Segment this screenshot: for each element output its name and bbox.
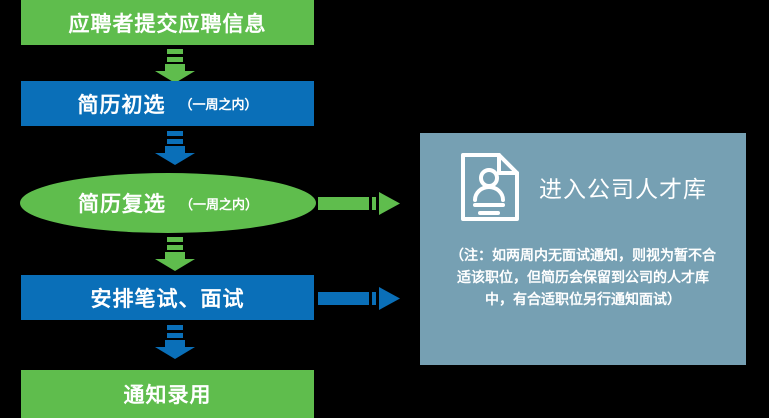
flow-node-screen2-label: 简历复选 (78, 188, 166, 218)
flow-node-resume-second-screening[interactable]: 简历复选 （一周之内） (20, 173, 316, 233)
arrow-exam-to-offer (153, 325, 197, 359)
flow-node-exam-label: 安排笔试、面试 (91, 283, 245, 313)
talent-pool-title: 进入公司人才库 (539, 170, 707, 204)
arrow-exam-to-talent-pool (318, 284, 402, 312)
flow-node-offer-label: 通知录用 (124, 379, 212, 409)
arrow-screen2-to-exam (153, 237, 197, 271)
flow-node-screen2-sublabel: （一周之内） (180, 194, 258, 213)
flow-node-notify-hire[interactable]: 通知录用 (21, 370, 314, 418)
resume-person-document-icon (459, 151, 521, 223)
talent-pool-panel[interactable]: 进入公司人才库 （注：如两周内无面试通知，则视为暂不合适该职位，但简历会保留到公… (420, 133, 746, 365)
talent-pool-note: （注：如两周内无面试通知，则视为暂不合适该职位，但简历会保留到公司的人才库中，有… (449, 245, 717, 311)
flow-node-arrange-exam-interview[interactable]: 安排笔试、面试 (21, 275, 314, 320)
arrow-screen2-to-talent-pool (318, 189, 402, 217)
flow-node-apply[interactable]: 应聘者提交应聘信息 (21, 0, 314, 45)
flow-node-resume-first-screening[interactable]: 简历初选 （一周之内） (21, 81, 314, 126)
talent-pool-panel-header: 进入公司人才库 (420, 151, 746, 223)
arrow-apply-to-screen1 (153, 49, 197, 83)
flow-node-apply-label: 应聘者提交应聘信息 (69, 8, 267, 38)
flow-node-screen1-sublabel: （一周之内） (179, 94, 257, 113)
flow-node-screen1-label: 简历初选 (77, 89, 165, 119)
flowchart-canvas: 应聘者提交应聘信息 简历初选 （一周之内） 简历复选 （一周之内） 安排笔试、面… (0, 0, 769, 418)
arrow-screen1-to-screen2 (153, 131, 197, 165)
